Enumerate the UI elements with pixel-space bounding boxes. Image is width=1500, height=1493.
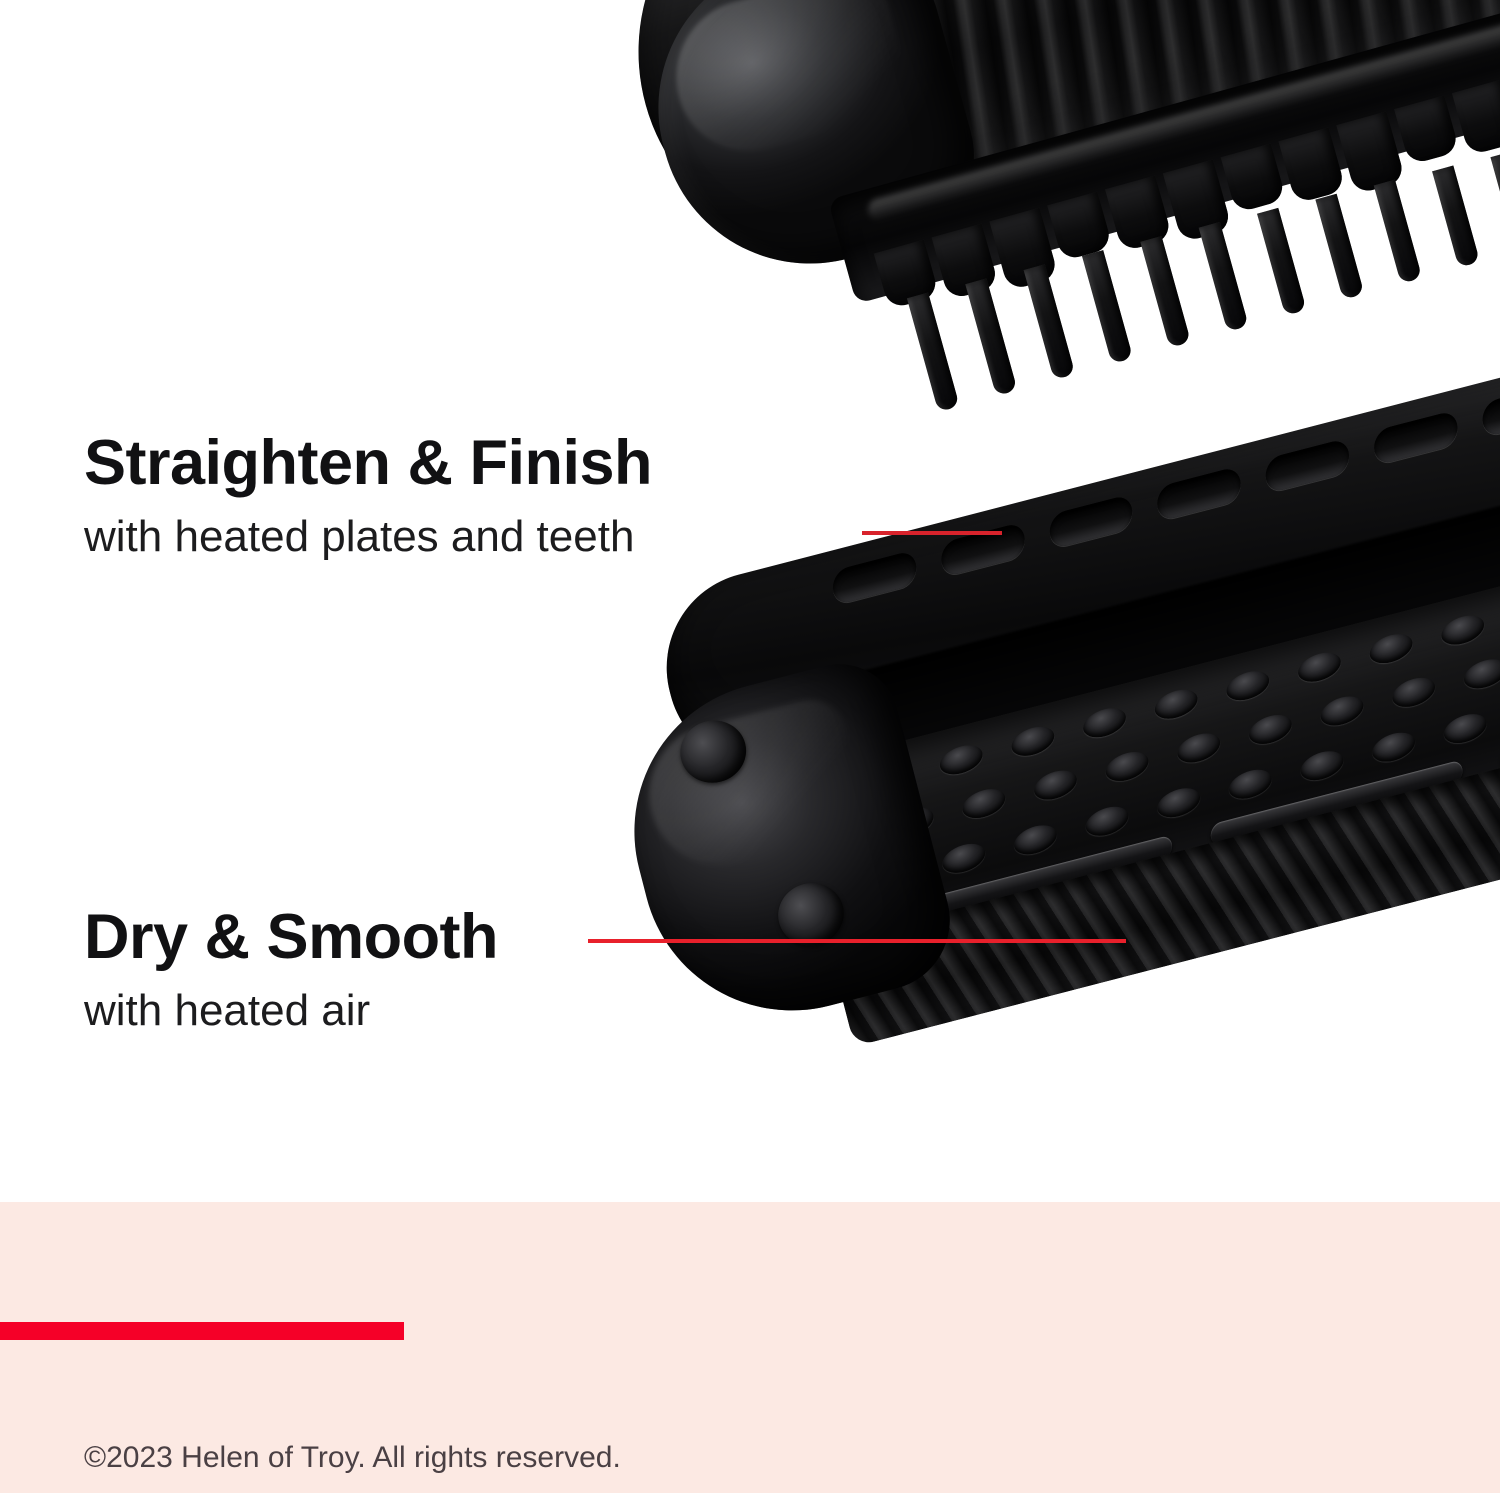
plate-vent-dimple [1298,648,1341,686]
comb-tooth [965,278,1017,396]
plate-vent-dimple [1083,704,1126,742]
plate-vent-dimple [1392,674,1435,712]
plate-slot-vent [1157,466,1242,522]
plate-vent-dimple [1300,747,1343,785]
plate-vent-dimple [1157,784,1200,822]
plate-vent-dimple [1011,722,1054,760]
comb-tooth [1024,264,1076,380]
comb-tooth-block [1221,143,1287,213]
plate-vent-dimple [1034,766,1077,804]
comb-tooth [1374,180,1422,284]
plate-vent-dimple [962,785,1005,823]
plate-vent-dimple [1105,748,1148,786]
plate-vent-dimple [940,741,983,779]
plate-vent-dimple [1372,728,1415,766]
plate-vent-dimple [1320,692,1363,730]
callout-dry-smooth: Dry & Smooth with heated air [84,906,498,1033]
copyright-text: ©2023 Helen of Troy. All rights reserved… [84,1443,621,1473]
plate-slot-vent [1265,438,1350,494]
plate-slot-vent [1049,494,1134,550]
product-stage: Straighten & Finish with heated plates a… [0,0,1500,1202]
callout-headline-straighten-finish: Straighten & Finish [84,432,652,495]
plate-slot-vent [832,550,917,606]
plate-vent-dimple [1444,710,1487,748]
comb-tooth [1140,236,1191,348]
comb-tooth [1082,250,1133,364]
plate-vent-dimple [1177,729,1220,767]
comb-tooth [1315,194,1364,300]
plate-vent-dimple [1249,711,1292,749]
plate-vent-dimple [1369,630,1412,668]
comb-tooth [1432,165,1480,267]
plate-vent-dimple [1441,611,1484,649]
plate-vent-dimple [1464,655,1500,693]
callout-subline-dry-smooth: with heated air [84,989,498,1033]
callout-headline-dry-smooth: Dry & Smooth [84,906,498,969]
callout-straighten-finish: Straighten & Finish with heated plates a… [84,432,652,559]
plate-vent-dimple [1014,821,1057,859]
comb-tooth [907,292,960,412]
brand-accent-bar [0,1322,404,1340]
comb-tooth [1257,208,1307,316]
straightener-lid-with-comb-teeth [592,0,1500,452]
plate-slot-vent [1482,382,1500,438]
leader-line-dry-smooth [588,939,1126,943]
callout-subline-straighten-finish: with heated plates and teeth [84,515,652,559]
comb-tooth-block [1278,127,1345,204]
comb-tooth [1490,151,1500,251]
plate-vent-dimple [1229,765,1272,803]
plate-vent-dimple [942,839,985,877]
product-feature-image: Straighten & Finish with heated plates a… [0,0,1500,1493]
plate-slot-vent [1373,410,1458,466]
plate-vent-dimple [1155,685,1198,723]
comb-tooth-block [1452,79,1500,156]
comb-tooth-block [1394,95,1460,165]
heated-vented-plate [589,329,1500,1074]
plate-vent-dimple [1085,802,1128,840]
leader-line-straighten-finish [862,531,1002,535]
comb-tooth [1199,222,1249,332]
plate-vent-dimple [1226,667,1269,705]
